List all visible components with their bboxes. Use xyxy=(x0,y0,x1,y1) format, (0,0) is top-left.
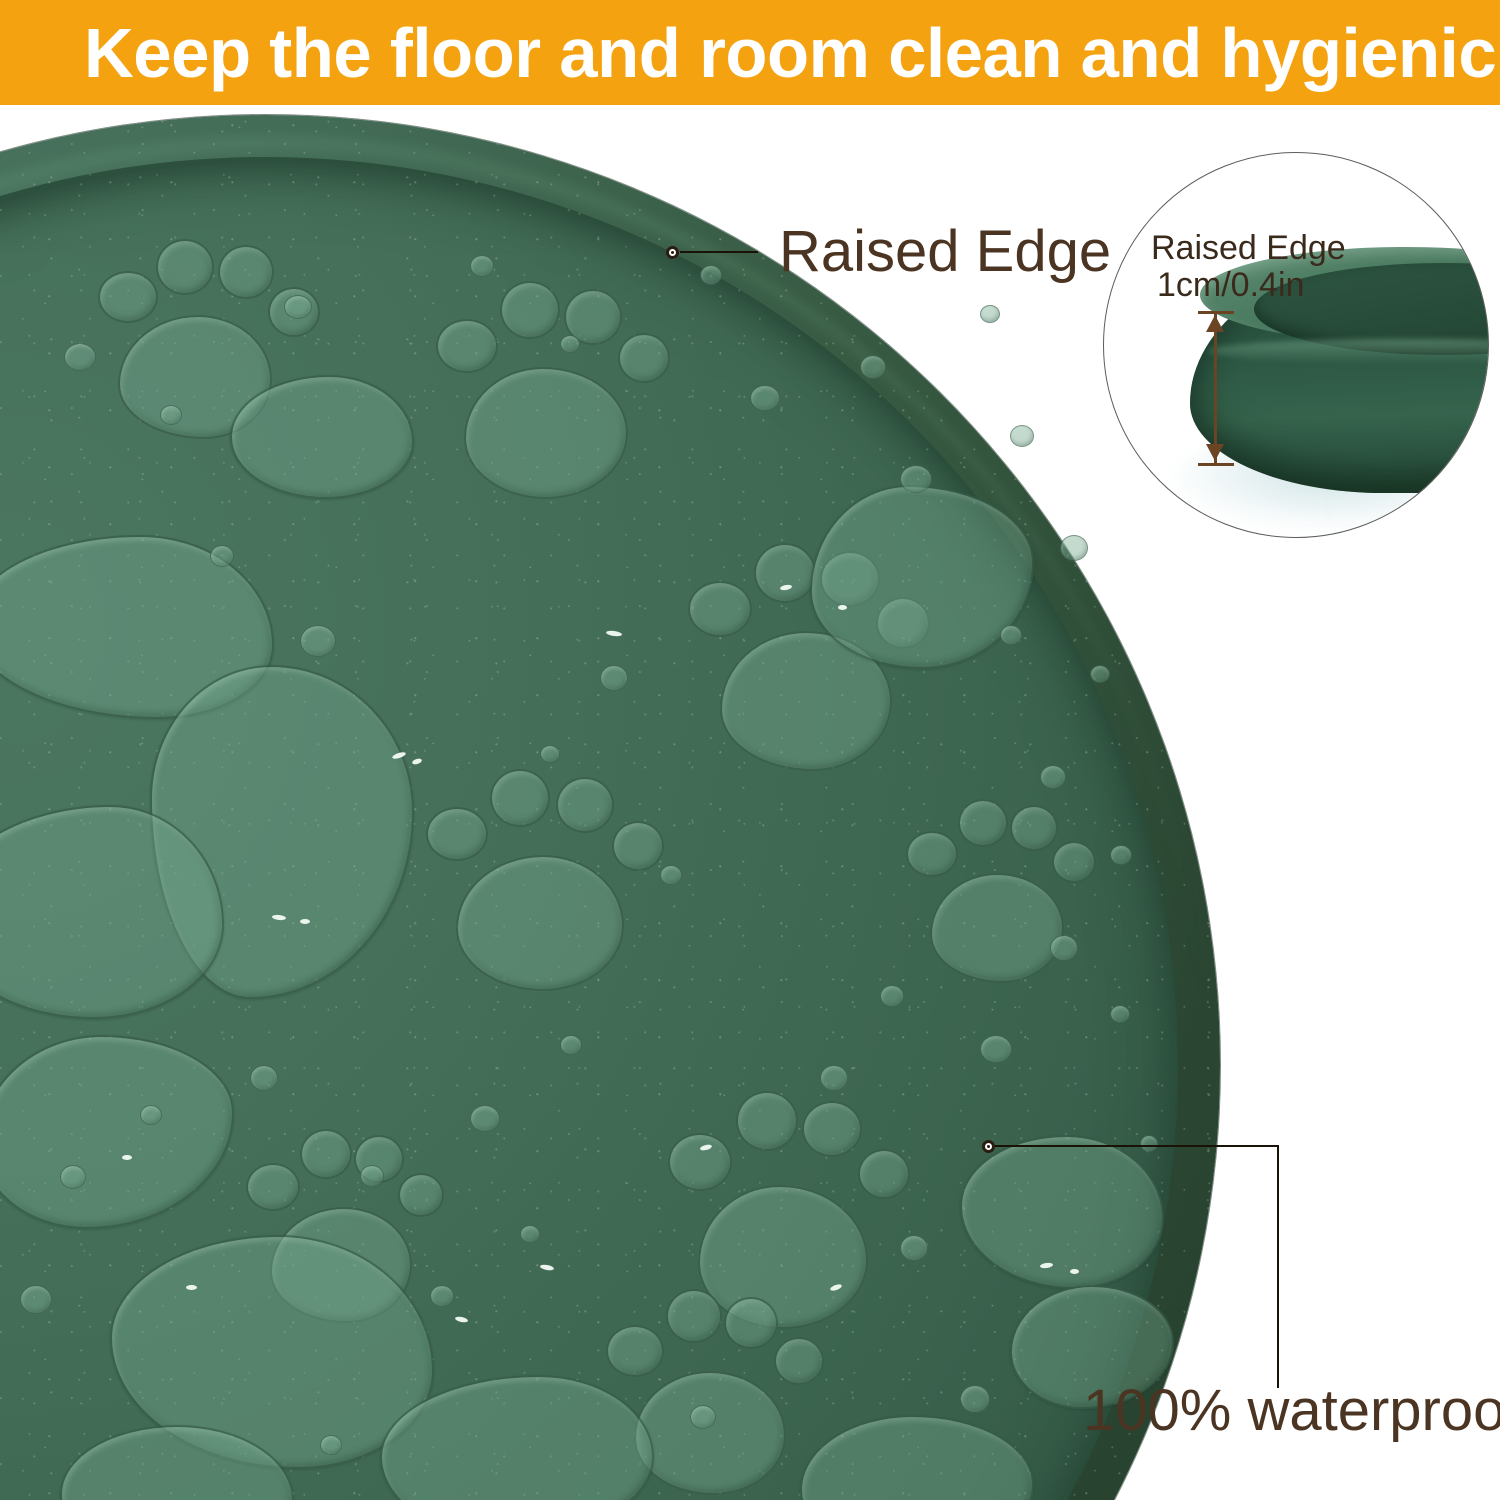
callout-dot-waterproof xyxy=(982,1140,995,1153)
leader-line-waterproof-horizontal xyxy=(995,1145,1278,1147)
dimension-arrow-down-icon xyxy=(1206,444,1224,461)
callout-label-waterproof: 100% waterproof xyxy=(1083,1375,1500,1447)
water-droplet xyxy=(1010,425,1034,447)
dimension-cap-bottom xyxy=(1198,463,1234,466)
header-title: Keep the floor and room clean and hygien… xyxy=(84,9,1496,97)
inset-label-raised-edge: Raised Edge xyxy=(1151,228,1346,268)
leader-line-waterproof-vertical xyxy=(1277,1145,1279,1388)
dimension-arrow-up-icon xyxy=(1206,315,1224,332)
dimension-line xyxy=(1214,313,1217,463)
inset-closeup-circle xyxy=(1103,152,1489,538)
tray-floor-surface xyxy=(0,157,1178,1500)
header-banner: Keep the floor and room clean and hygien… xyxy=(0,0,1500,105)
callout-dot-raised-edge xyxy=(666,246,679,259)
product-marketing-image: Keep the floor and room clean and hygien… xyxy=(0,0,1500,1500)
water-droplet xyxy=(980,305,1000,323)
inset-label-dimension: 1cm/0.4in xyxy=(1157,265,1304,305)
leader-line-raised-edge xyxy=(680,251,758,253)
callout-label-raised-edge: Raised Edge xyxy=(779,216,1111,288)
